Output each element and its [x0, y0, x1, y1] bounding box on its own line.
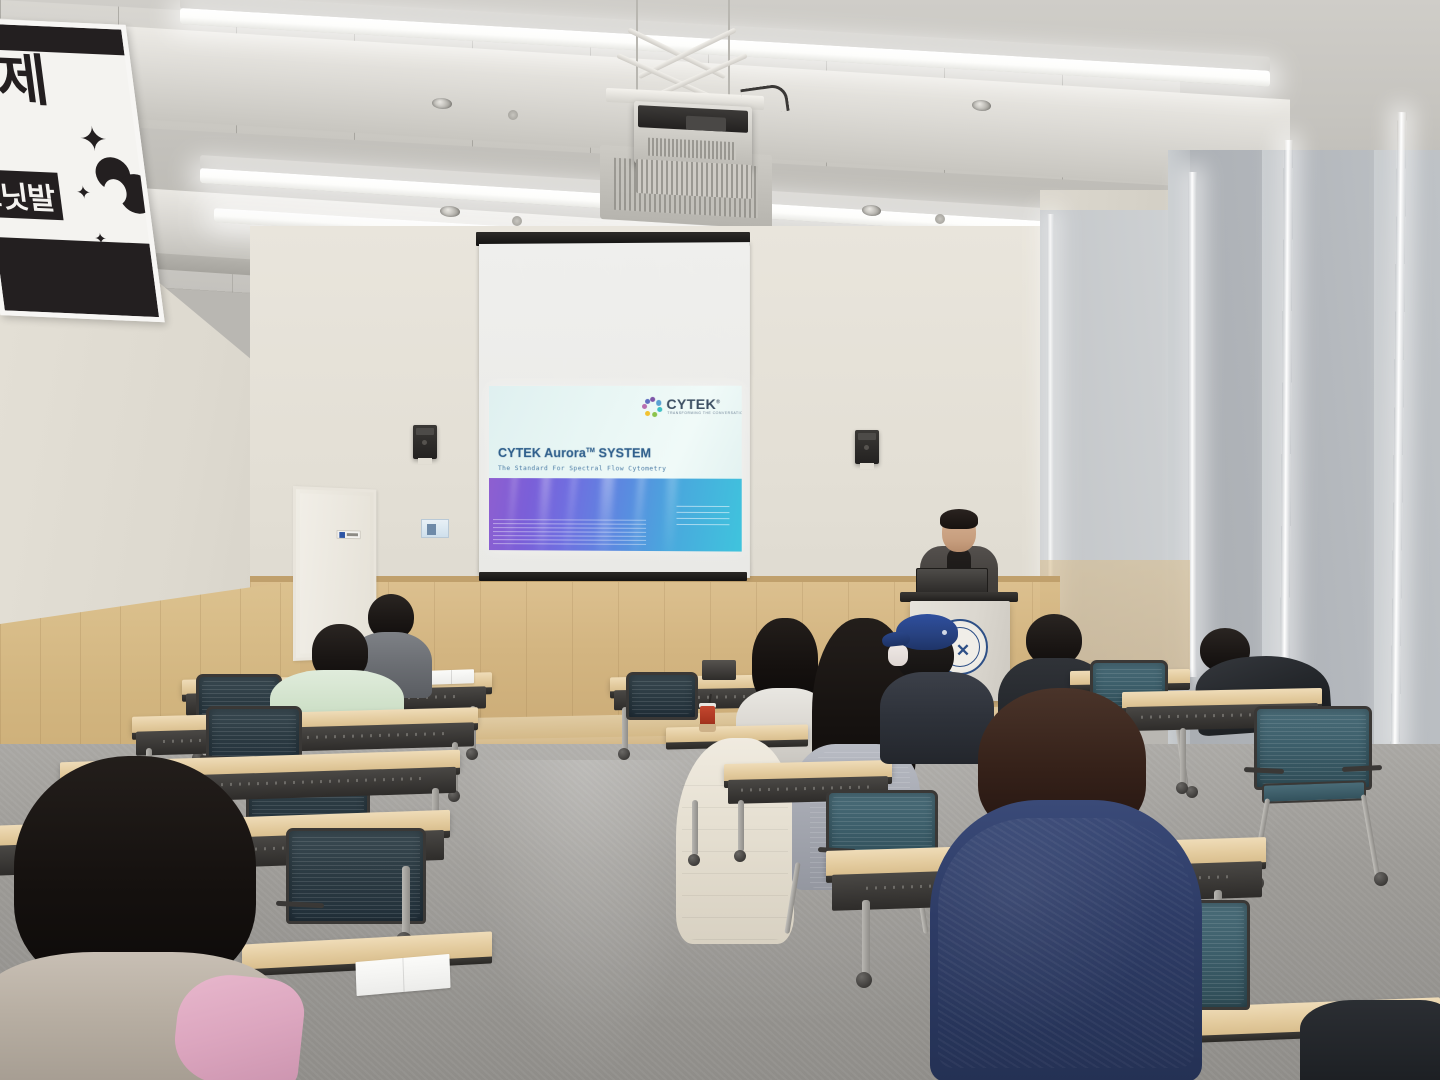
desk-caster: [466, 748, 478, 760]
cytek-logo: CYTEK® TRANSFORMING THE CONVERSATION: [642, 396, 732, 418]
cytek-wordmark: CYTEK®: [666, 396, 720, 412]
cytek-tagline: TRANSFORMING THE CONVERSATION: [667, 411, 741, 415]
student-front-left: [0, 756, 330, 1080]
ceiling-projector: [600, 92, 770, 212]
open-notebook: [428, 669, 474, 685]
projector-scissor-mount: [628, 40, 736, 96]
banner-sparkle-icon-2: ✦: [75, 183, 93, 202]
presenter-hair: [940, 509, 978, 529]
wall-speaker-right: [855, 430, 879, 464]
laptop-lid: [916, 568, 988, 594]
sprinkler-head-1: [508, 110, 518, 120]
slide-title-suffix: SYSTEM: [599, 446, 652, 460]
projector-grille: [636, 159, 752, 199]
desk-leg: [738, 800, 744, 852]
screen-surface: CYTEK® TRANSFORMING THE CONVERSATION CYT…: [479, 242, 750, 578]
banner-korean-line-1: 대제: [0, 51, 50, 108]
banner-sparkle-icon-1: ✦: [77, 122, 110, 157]
student-navy-fleece: [930, 688, 1202, 1080]
desk-leg: [692, 800, 698, 856]
desk-caster: [856, 972, 872, 988]
slide-aurora-panel: [489, 478, 742, 552]
projector-ports: [686, 116, 726, 132]
student-right-edge: [1300, 1000, 1440, 1080]
projected-slide: CYTEK® TRANSFORMING THE CONVERSATION CYT…: [489, 386, 742, 552]
lecture-hall-photo: 대제 소닛발 ✦ ✦ ✦: [0, 0, 1440, 1080]
sprinkler-head-2: [512, 216, 522, 226]
chair-backrest: [626, 672, 698, 720]
slide-title: CYTEK AuroraTM SYSTEM: [498, 446, 651, 460]
slide-fineprint-block: [493, 518, 646, 545]
window-slit-4: [1047, 214, 1054, 614]
cytek-registered-mark: ®: [716, 399, 720, 405]
projector-rear-panel: [638, 105, 748, 133]
student-laptop-1: [702, 660, 736, 680]
cytek-dots-icon: [642, 397, 663, 418]
door-room-sign: [336, 530, 360, 539]
slide-title-tm: TM: [586, 448, 595, 454]
student-jacket: [1300, 1000, 1440, 1080]
cytek-brand-text: CYTEK: [666, 396, 716, 412]
desk-leg: [402, 866, 410, 936]
slide-title-prefix: CYTEK Aurora: [498, 446, 586, 460]
desk-leg: [862, 900, 870, 976]
projector-vent: [648, 138, 736, 161]
projection-screen: CYTEK® TRANSFORMING THE CONVERSATION CYT…: [476, 232, 750, 574]
chair-seat: [1262, 780, 1366, 804]
desk-caster: [688, 854, 700, 866]
chair-backrest: [1254, 706, 1372, 790]
wall-speaker-left: [413, 425, 437, 459]
desk-caster: [618, 748, 630, 760]
banner-bottom-bar: [0, 237, 159, 317]
aisle-highlight: [470, 760, 700, 1080]
slide-contact-block: [677, 501, 730, 525]
desk-caster: [734, 850, 746, 862]
slide-subtitle: The Standard For Spectral Flow Cytometry: [498, 465, 666, 472]
fleece-texture: [938, 818, 1194, 1068]
chair-right-front: [1254, 706, 1372, 790]
chair-caster: [1374, 872, 1388, 886]
banner-korean-line-2: 소닛발: [0, 169, 63, 221]
face-mask: [888, 644, 908, 666]
sprinkler-head-3: [935, 214, 945, 224]
chair-center-back: [626, 672, 698, 720]
cap-logo-icon: [942, 630, 947, 635]
screen-bottom-bar: [479, 572, 747, 581]
exit-direction-sign: [421, 519, 449, 538]
